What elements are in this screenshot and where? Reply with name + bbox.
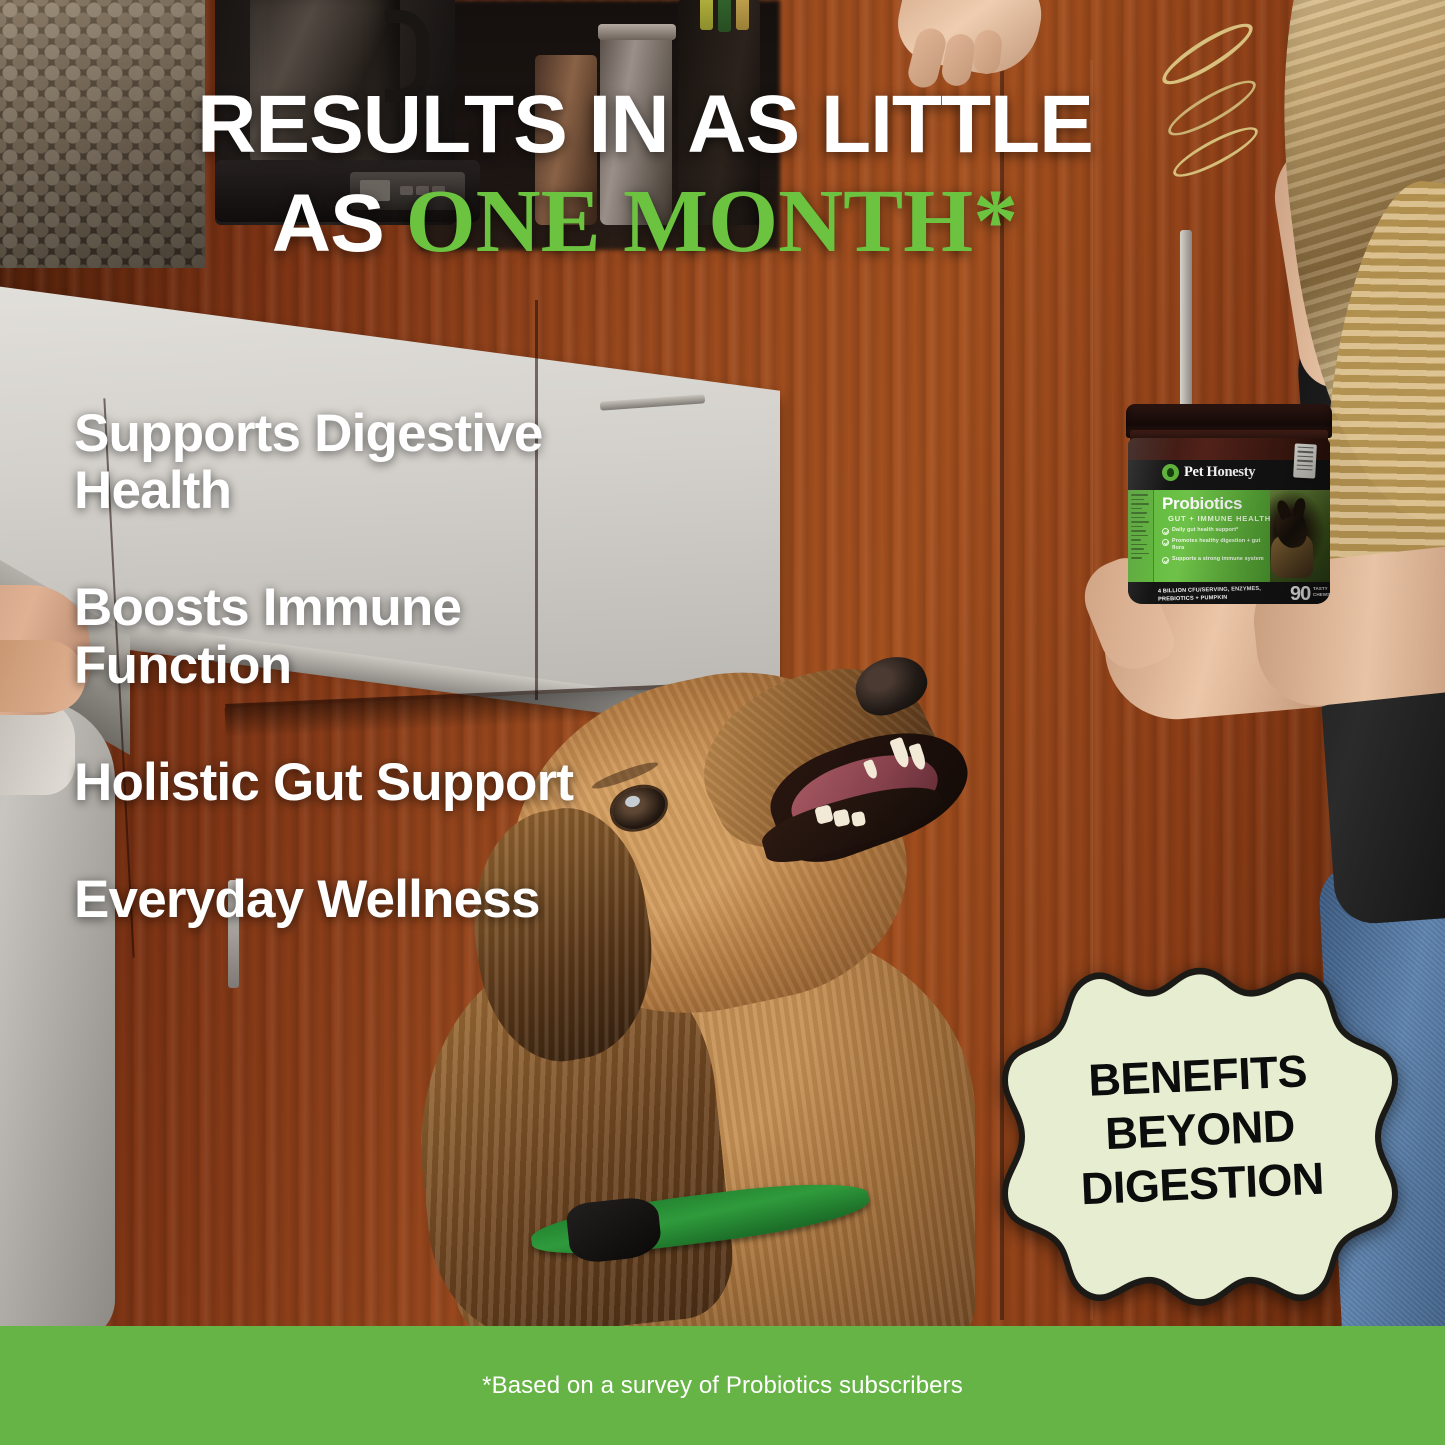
headline: RESULTS IN AS LITTLE AS ONE MONTH* <box>0 86 1290 265</box>
product-bullet-text: Promotes healthy digestion + gut flora <box>1172 538 1272 553</box>
footer-bar: *Based on a survey of Probiotics subscri… <box>0 1326 1445 1445</box>
benefits-list: Supports Digestive Health Boosts Immune … <box>74 405 674 928</box>
footer-disclaimer: *Based on a survey of Probiotics subscri… <box>482 1372 963 1400</box>
check-icon <box>1162 528 1169 535</box>
natural-seal-sticker <box>1293 443 1317 478</box>
check-icon <box>1162 557 1169 564</box>
product-subtitle: GUT + IMMUNE HEALTH <box>1168 514 1273 523</box>
german-shepherd-ear <box>1292 497 1307 518</box>
utensil <box>736 0 749 30</box>
headline-accent: ONE MONTH* <box>406 172 1019 271</box>
label-side-text-lines <box>1131 494 1151 562</box>
product-bullet-list: Daily gut health support* Promotes healt… <box>1162 527 1272 567</box>
badge-line-2: BEYOND <box>1104 1099 1296 1161</box>
product-claim-text: 4 BILLION CFU/SERVING, ENZYMES, PREBIOTI… <box>1158 584 1278 603</box>
utensil <box>718 0 731 32</box>
headline-line-1: RESULTS IN AS LITTLE <box>197 79 1093 170</box>
headline-line-2-prefix: AS <box>272 178 406 269</box>
pet-honesty-paw-icon <box>1162 464 1179 481</box>
headline-line-2: AS ONE MONTH* <box>0 179 1290 265</box>
brand-name: Pet Honesty <box>1184 464 1255 481</box>
benefit-item-digestive-health: Supports Digestive Health <box>74 405 674 519</box>
benefit-item-everyday-wellness: Everyday Wellness <box>74 871 674 928</box>
product-name: Probiotics <box>1162 494 1272 514</box>
product-count-label: TASTY CHEWS <box>1313 586 1330 597</box>
product-bullet: Promotes healthy digestion + gut flora <box>1162 538 1272 553</box>
dog-tooth <box>851 811 866 827</box>
check-icon <box>1162 539 1169 546</box>
product-jar: Pet Honesty Probiotics GUT + IMMUNE HEAL… <box>1124 404 1336 604</box>
badge-line-1: BENEFITS <box>1087 1044 1308 1107</box>
product-bullet-text: Daily gut health support* <box>1172 527 1238 534</box>
product-marketing-image: Pet Honesty Probiotics GUT + IMMUNE HEAL… <box>0 0 1445 1445</box>
benefit-item-gut-support: Holistic Gut Support <box>74 754 674 811</box>
badge-line-3: DIGESTION <box>1080 1152 1325 1217</box>
benefits-beyond-digestion-badge: BENEFITS BEYOND DIGESTION <box>1000 930 1400 1330</box>
product-bullet-text: Supports a strong immune system <box>1172 556 1264 563</box>
label-dog-photo <box>1270 490 1330 582</box>
left-person-hand <box>0 640 85 712</box>
canister-lid <box>598 24 676 40</box>
jar-body: Pet Honesty Probiotics GUT + IMMUNE HEAL… <box>1128 438 1330 604</box>
product-bullet: Daily gut health support* <box>1162 527 1272 535</box>
badge-text-block: BENEFITS BEYOND DIGESTION <box>991 921 1408 1338</box>
product-bullet: Supports a strong immune system <box>1162 556 1272 564</box>
dog-tooth <box>833 809 851 828</box>
product-count: 90 <box>1290 584 1310 604</box>
utensil <box>700 0 713 30</box>
brand-lockup: Pet Honesty <box>1162 464 1255 481</box>
benefit-item-immune-function: Boosts Immune Function <box>74 579 674 693</box>
